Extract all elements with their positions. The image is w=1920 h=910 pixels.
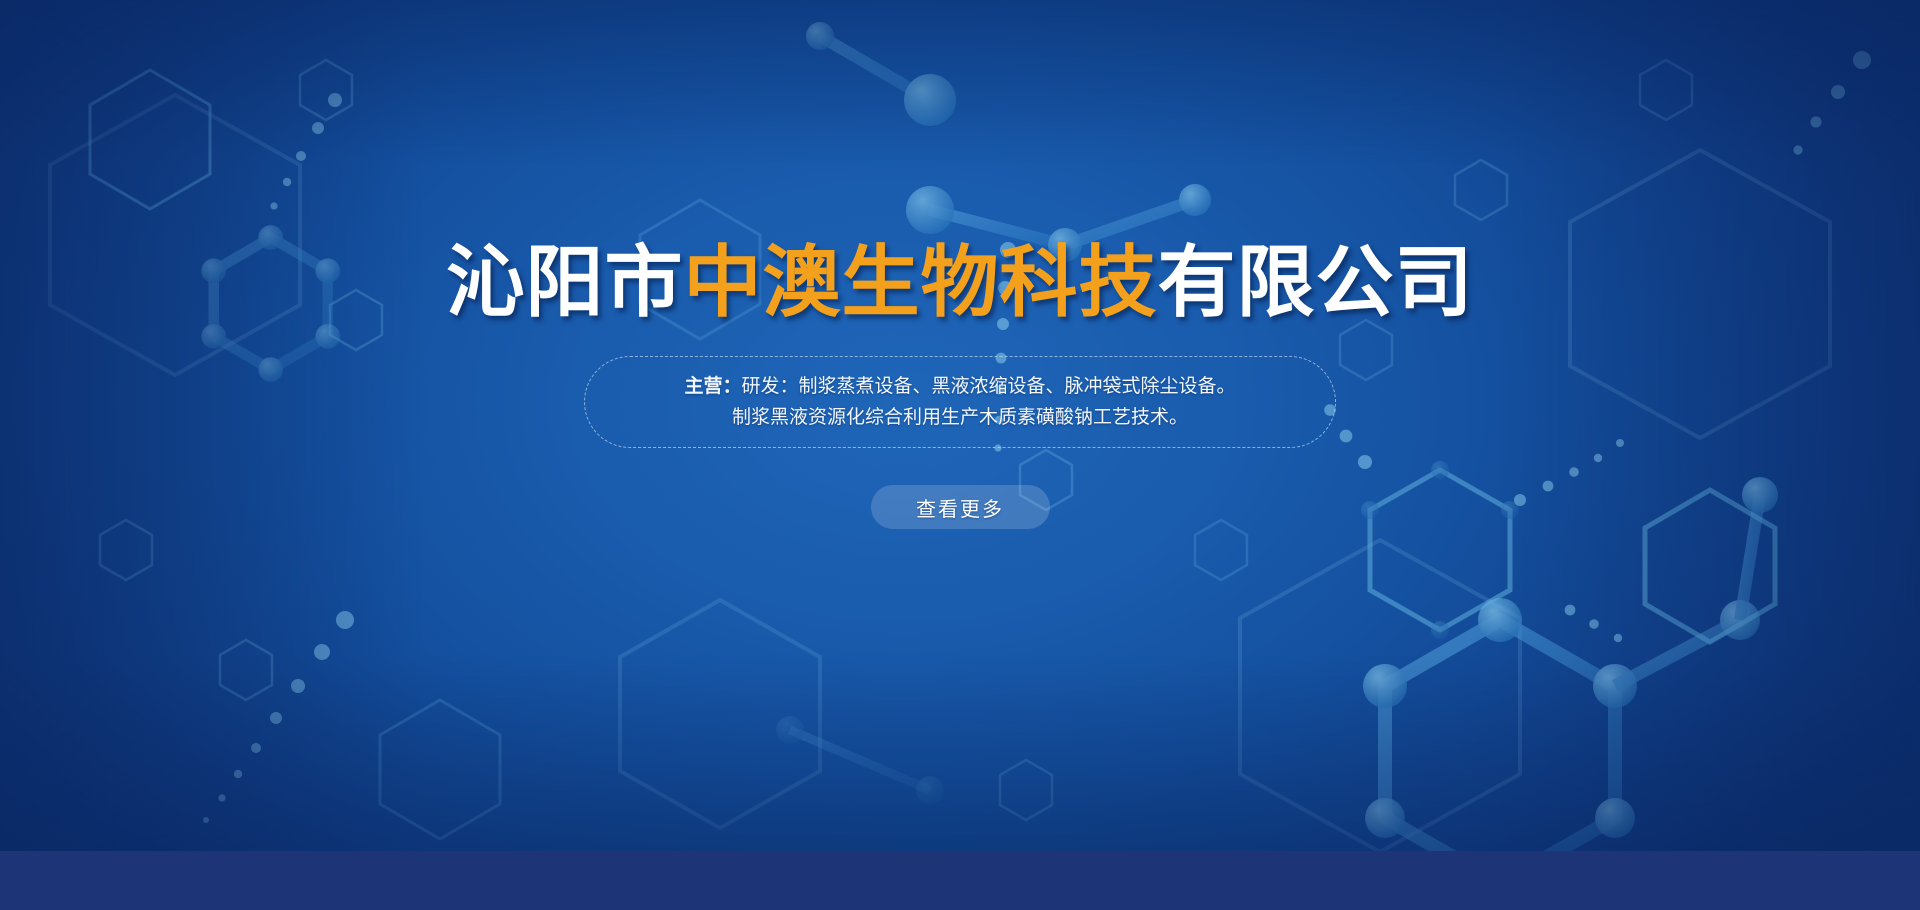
title-prefix: 沁阳市 [446,238,683,326]
hero-content: 沁阳市中澳生物科技有限公司 主营：研发：制浆蒸煮设备、黑液浓缩设备、脉冲袋式除尘… [0,0,1920,851]
view-more-button[interactable]: 查看更多 [871,485,1050,529]
title-suffix: 有限公司 [1158,238,1474,326]
tagline-line-2: 制浆黑液资源化综合利用生产木质素磺酸钠工艺技术。 [732,406,1188,430]
page-title: 沁阳市中澳生物科技有限公司 [446,243,1473,321]
title-accent: 中澳生物科技 [683,238,1157,326]
tagline-line-1: 主营：研发：制浆蒸煮设备、黑液浓缩设备、脉冲袋式除尘设备。 [684,375,1235,399]
hero-banner: 沁阳市中澳生物科技有限公司 主营：研发：制浆蒸煮设备、黑液浓缩设备、脉冲袋式除尘… [0,0,1920,910]
tagline-line-1-text: 研发：制浆蒸煮设备、黑液浓缩设备、脉冲袋式除尘设备。 [742,376,1236,397]
bottom-band [0,851,1920,910]
tagline-box: 主营：研发：制浆蒸煮设备、黑液浓缩设备、脉冲袋式除尘设备。 制浆黑液资源化综合利… [584,356,1336,448]
tagline-lead: 主营： [684,376,741,397]
